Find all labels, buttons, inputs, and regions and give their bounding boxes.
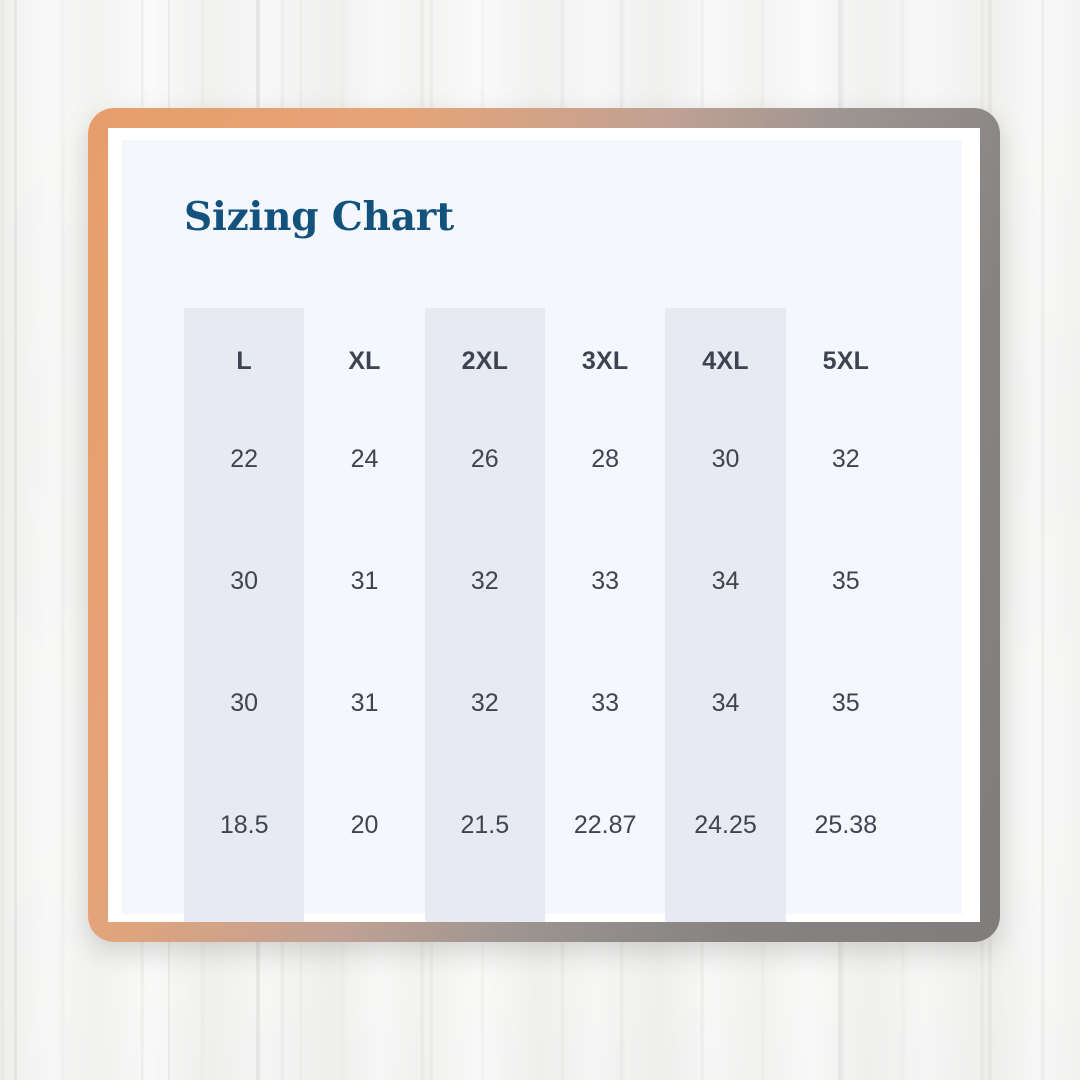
table-cell: 30 [184, 520, 304, 642]
table-body: 22 24 26 28 30 32 30 31 32 [184, 398, 906, 922]
table-cell: 34 [665, 642, 785, 764]
table-cell: 28 [545, 398, 665, 520]
table-cell: 32 [425, 520, 545, 642]
table-cell: 32 [425, 642, 545, 764]
table-cell: 31 [304, 520, 424, 642]
table-cell: 18.5 [184, 764, 304, 922]
table-cell: 32 [786, 398, 906, 520]
table-cell: 31 [304, 642, 424, 764]
table-cell: 24.25 [665, 764, 785, 922]
texture-streak [14, 0, 17, 1080]
table-cell: 33 [545, 520, 665, 642]
table-cell: 24 [304, 398, 424, 520]
table-cell: 33 [545, 642, 665, 764]
table-cell: 35 [786, 642, 906, 764]
column-header-2xl: 2XL [425, 308, 545, 398]
table-cell: 26 [425, 398, 545, 520]
table-row: 30 31 32 33 34 35 [184, 520, 906, 642]
table-header-row: L XL 2XL 3XL 4XL 5XL [184, 308, 906, 398]
table-header: L XL 2XL 3XL 4XL 5XL [184, 308, 906, 398]
column-header-xl: XL [304, 308, 424, 398]
card-frame-inner-border: Sizing Chart L XL 2XL 3XL 4XL [108, 128, 980, 922]
table-cell: 35 [786, 520, 906, 642]
table-cell: 34 [665, 520, 785, 642]
table-cell: 30 [184, 642, 304, 764]
table-cell: 25.38 [786, 764, 906, 922]
sizing-table: L XL 2XL 3XL 4XL 5XL 22 24 [184, 308, 906, 922]
table-row: 22 24 26 28 30 32 [184, 398, 906, 520]
card-frame: Sizing Chart L XL 2XL 3XL 4XL [88, 108, 1000, 942]
column-header-l: L [184, 308, 304, 398]
table-row: 18.5 20 21.5 22.87 24.25 25.38 [184, 764, 906, 922]
sizing-chart-card: Sizing Chart L XL 2XL 3XL 4XL [122, 140, 962, 914]
column-header-5xl: 5XL [786, 308, 906, 398]
column-header-4xl: 4XL [665, 308, 785, 398]
column-header-3xl: 3XL [545, 308, 665, 398]
table-cell: 22 [184, 398, 304, 520]
table-row: 30 31 32 33 34 35 [184, 642, 906, 764]
table-cell: 20 [304, 764, 424, 922]
background-surface: Sizing Chart L XL 2XL 3XL 4XL [0, 0, 1080, 1080]
texture-streak [1042, 0, 1044, 1080]
sizing-table-container: L XL 2XL 3XL 4XL 5XL 22 24 [184, 308, 902, 922]
page-title: Sizing Chart [184, 194, 902, 240]
table-cell: 21.5 [425, 764, 545, 922]
table-cell: 22.87 [545, 764, 665, 922]
table-cell: 30 [665, 398, 785, 520]
